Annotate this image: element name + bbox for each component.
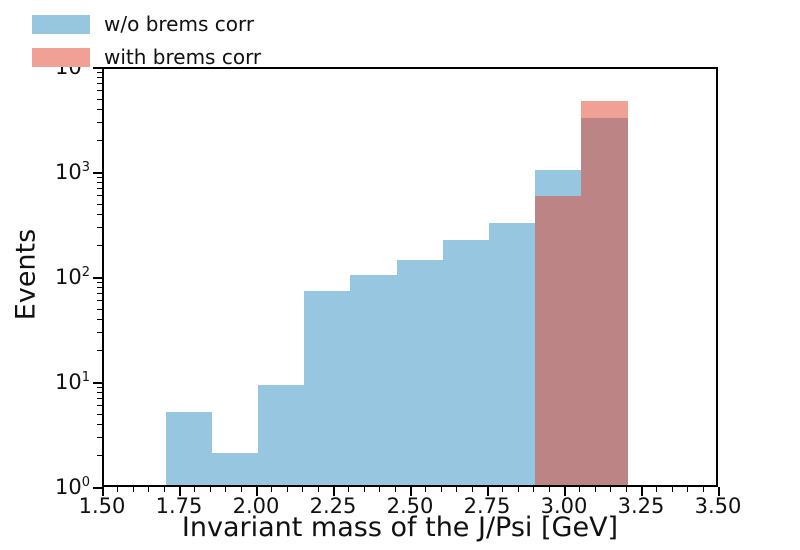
- x-axis-minor-tick: [117, 487, 118, 492]
- y-axis-minor-tick: [97, 122, 102, 123]
- y-axis-tick: [93, 382, 102, 384]
- y-axis-minor-tick: [97, 424, 102, 425]
- legend-label: w/o brems corr: [104, 12, 254, 36]
- x-axis-minor-tick: [441, 487, 442, 492]
- legend: w/o brems corr with brems corr: [32, 12, 261, 69]
- histogram-bar: [258, 385, 304, 485]
- x-axis-minor-tick: [610, 487, 611, 492]
- y-axis-minor-tick: [97, 214, 102, 215]
- histogram-bar: [304, 291, 350, 485]
- y-axis-minor-tick: [97, 72, 102, 73]
- x-axis-minor-tick: [656, 487, 657, 492]
- y-axis-tick: [93, 487, 102, 489]
- y-axis-tick: [93, 277, 102, 279]
- x-axis-minor-tick: [672, 487, 673, 492]
- x-axis-minor-tick: [703, 487, 704, 492]
- legend-swatch-icon: [32, 15, 90, 34]
- x-axis-minor-tick: [318, 487, 319, 492]
- x-axis-minor-tick: [472, 487, 473, 492]
- y-axis-minor-tick: [97, 455, 102, 456]
- x-axis-minor-tick: [425, 487, 426, 492]
- y-axis-minor-tick: [97, 309, 102, 310]
- y-axis-tick-label: 103: [55, 160, 90, 184]
- legend-item: with brems corr: [32, 45, 261, 69]
- histogram-bar: [350, 275, 396, 485]
- legend-swatch-icon: [32, 48, 90, 67]
- x-axis-minor-tick: [194, 487, 195, 492]
- x-axis-minor-tick: [241, 487, 242, 492]
- y-axis-minor-tick: [97, 300, 102, 301]
- plot-area: [102, 67, 718, 487]
- x-axis-minor-tick: [549, 487, 550, 492]
- y-axis-minor-tick: [97, 332, 102, 333]
- x-axis-minor-tick: [687, 487, 688, 492]
- histogram-bar: [166, 412, 212, 485]
- x-axis-minor-tick: [626, 487, 627, 492]
- x-axis-minor-tick: [287, 487, 288, 492]
- y-axis-minor-tick: [97, 188, 102, 189]
- y-axis-minor-tick: [97, 109, 102, 110]
- x-axis-minor-tick: [133, 487, 134, 492]
- figure: 100101102103104 1.501.752.002.252.502.75…: [0, 0, 800, 550]
- histogram-bar: [489, 223, 535, 485]
- x-axis-minor-tick: [164, 487, 165, 492]
- y-axis-minor-tick: [97, 227, 102, 228]
- y-axis-minor-tick: [97, 83, 102, 84]
- y-axis-minor-tick: [97, 319, 102, 320]
- x-axis-minor-tick: [148, 487, 149, 492]
- y-axis-minor-tick: [97, 398, 102, 399]
- x-axis-minor-tick: [225, 487, 226, 492]
- x-axis-minor-tick: [456, 487, 457, 492]
- y-axis-title: Events: [11, 145, 42, 405]
- y-axis-minor-tick: [97, 405, 102, 406]
- x-axis-minor-tick: [271, 487, 272, 492]
- y-axis-minor-tick: [97, 77, 102, 78]
- x-axis-minor-tick: [302, 487, 303, 492]
- histogram-bar-overlap: [535, 196, 581, 485]
- y-axis-minor-tick: [97, 392, 102, 393]
- x-axis-minor-tick: [395, 487, 396, 492]
- y-axis-minor-tick: [97, 437, 102, 438]
- y-axis-tick: [93, 172, 102, 174]
- y-axis-minor-tick: [97, 387, 102, 388]
- y-axis-minor-tick: [97, 245, 102, 246]
- x-axis-title: Invariant mass of the J/Psi [GeV]: [0, 512, 800, 543]
- y-axis-minor-tick: [97, 293, 102, 294]
- x-axis-minor-tick: [348, 487, 349, 492]
- histogram-bars: [104, 69, 716, 485]
- histogram-bar: [443, 240, 489, 485]
- y-axis-tick-label: 101: [55, 370, 90, 394]
- y-axis-tick-label: 102: [55, 265, 90, 289]
- y-axis-minor-tick: [97, 140, 102, 141]
- y-axis-minor-tick: [97, 414, 102, 415]
- y-axis-minor-tick: [97, 350, 102, 351]
- x-axis-minor-tick: [379, 487, 380, 492]
- y-axis-minor-tick: [97, 204, 102, 205]
- x-axis-minor-tick: [533, 487, 534, 492]
- x-axis-minor-tick: [364, 487, 365, 492]
- histogram-bar-overlap: [581, 118, 627, 485]
- histogram-bar: [212, 453, 258, 485]
- legend-label: with brems corr: [104, 45, 261, 69]
- y-axis-minor-tick: [97, 195, 102, 196]
- x-axis-minor-tick: [502, 487, 503, 492]
- y-axis-minor-tick: [97, 182, 102, 183]
- y-axis-minor-tick: [97, 90, 102, 91]
- x-axis-minor-tick: [518, 487, 519, 492]
- x-axis-minor-tick: [595, 487, 596, 492]
- x-axis-minor-tick: [210, 487, 211, 492]
- y-axis-minor-tick: [97, 282, 102, 283]
- histogram-bar: [397, 260, 443, 485]
- y-axis-minor-tick: [97, 177, 102, 178]
- x-axis-minor-tick: [579, 487, 580, 492]
- y-axis-minor-tick: [97, 287, 102, 288]
- legend-item: w/o brems corr: [32, 12, 261, 36]
- y-axis-minor-tick: [97, 99, 102, 100]
